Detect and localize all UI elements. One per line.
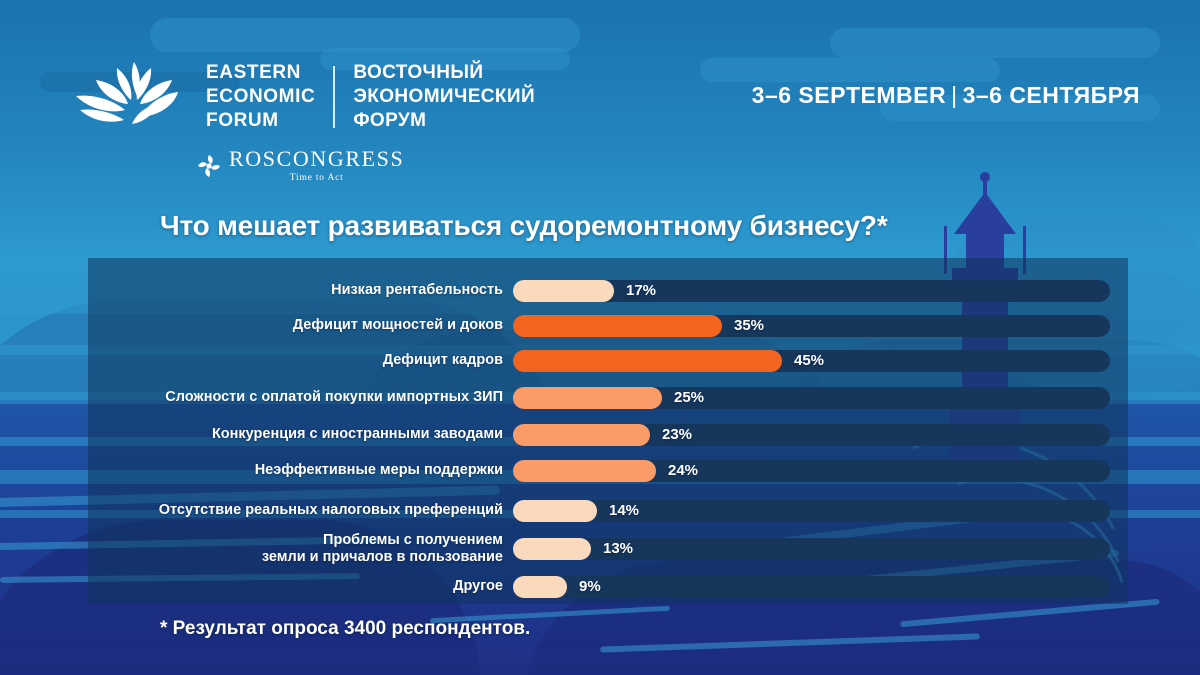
brand-divider [333,66,335,128]
roscongress-pinwheel-icon [196,153,222,179]
chart-bar-value: 25% [674,387,704,409]
chart-row-label: Отсутствие реальных налоговых преференци… [88,502,513,519]
chart-bar-fill [513,576,567,598]
chart-bar-fill [513,387,662,409]
chart-bar-fill [513,315,722,337]
chart-bar-track: 14% [513,500,1110,522]
chart-bar-value: 35% [734,315,764,337]
chart-row: Другое9% [88,574,1138,600]
chart-row-label-line: Дефицит мощностей и доков [88,317,503,334]
header: EASTERN ECONOMIC FORUM ВОСТОЧНЫЙ ЭКОНОМИ… [0,0,1200,200]
chart-bar-value: 14% [609,500,639,522]
chart-bar-value: 17% [626,280,656,302]
chart-bar-fill [513,500,597,522]
chart-row-label-line: Проблемы с получением [88,532,503,549]
brand-name-en: EASTERN ECONOMIC FORUM [206,61,315,134]
event-dates: 3–6 SEPTEMBER|3–6 СЕНТЯБРЯ [752,82,1140,109]
chart-bar-track: 13% [513,538,1110,560]
chart-bar-fill [513,424,650,446]
brand-en-line-3: FORUM [206,109,315,133]
chart-bar-track: 23% [513,424,1110,446]
brand-ru-line-2: ЭКОНОМИЧЕСКИЙ [353,85,535,109]
roscongress-logo-lockup: ROSCONGRESS Time to Act [196,148,404,183]
chart-row: Отсутствие реальных налоговых преференци… [88,498,1138,524]
chart-bar-track: 25% [513,387,1110,409]
chart-row-label: Низкая рентабельность [88,282,513,299]
chart-row-label-line: Неэффективные меры поддержки [88,462,503,479]
brand-en-line-2: ECONOMIC [206,85,315,109]
chart-bar-fill [513,280,614,302]
chart-bar-value: 45% [794,350,824,372]
chart-row-label-line: Дефицит кадров [88,352,503,369]
chart-bar-fill [513,350,782,372]
chart-row-label: Другое [88,578,513,595]
chart-bar-track: 9% [513,576,1110,598]
chart-row-label-line: Конкуренция с иностранными заводами [88,426,503,443]
chart-row: Проблемы с получениемземли и причалов в … [88,536,1138,562]
bar-chart: Низкая рентабельность17%Дефицит мощносте… [88,258,1138,604]
chart-row-label-line: Другое [88,578,503,595]
chart-bar-track: 35% [513,315,1110,337]
roscongress-name: ROSCONGRESS [229,148,404,170]
chart-row-label: Проблемы с получениемземли и причалов в … [88,532,513,566]
dates-separator: | [951,82,957,108]
chart-row-label-line: Сложности с оплатой покупки импортных ЗИ… [88,389,503,406]
brand-ru-line-1: ВОСТОЧНЫЙ [353,61,535,85]
chart-row: Низкая рентабельность17% [88,278,1138,304]
chart-row: Дефицит кадров45% [88,348,1138,374]
brand-name-ru: ВОСТОЧНЫЙ ЭКОНОМИЧЕСКИЙ ФОРУМ [353,61,535,134]
chart-row-label: Дефицит мощностей и доков [88,317,513,334]
eef-logo-lockup: EASTERN ECONOMIC FORUM ВОСТОЧНЫЙ ЭКОНОМИ… [70,58,535,136]
roscongress-tagline: Time to Act [229,173,404,183]
brand-ru-line-3: ФОРУМ [353,109,535,133]
chart-row-label: Конкуренция с иностранными заводами [88,426,513,443]
lotus-logo-icon [70,58,200,136]
chart-row: Неэффективные меры поддержки24% [88,458,1138,484]
chart-row-label-line: Низкая рентабельность [88,282,503,299]
chart-bar-fill [513,538,591,560]
chart-row-label-line: земли и причалов в пользование [88,549,503,566]
chart-bar-track: 24% [513,460,1110,482]
dates-en: 3–6 SEPTEMBER [752,82,946,108]
chart-bar-track: 17% [513,280,1110,302]
chart-bar-fill [513,460,656,482]
chart-row-label: Сложности с оплатой покупки импортных ЗИ… [88,389,513,406]
footnote: * Результат опроса 3400 респондентов. [160,618,530,640]
chart-bar-value: 24% [668,460,698,482]
chart-row: Дефицит мощностей и доков35% [88,313,1138,339]
dates-ru: 3–6 СЕНТЯБРЯ [963,82,1140,108]
chart-row: Конкуренция с иностранными заводами23% [88,422,1138,448]
chart-bar-value: 13% [603,538,633,560]
chart-row-label: Дефицит кадров [88,352,513,369]
chart-bar-value: 23% [662,424,692,446]
page-title: Что мешает развиваться судоремонтному би… [160,210,888,242]
brand-en-line-1: EASTERN [206,61,315,85]
chart-row-label-line: Отсутствие реальных налоговых преференци… [88,502,503,519]
chart-bar-track: 45% [513,350,1110,372]
chart-bar-value: 9% [579,576,601,598]
chart-row-label: Неэффективные меры поддержки [88,462,513,479]
chart-row: Сложности с оплатой покупки импортных ЗИ… [88,385,1138,411]
